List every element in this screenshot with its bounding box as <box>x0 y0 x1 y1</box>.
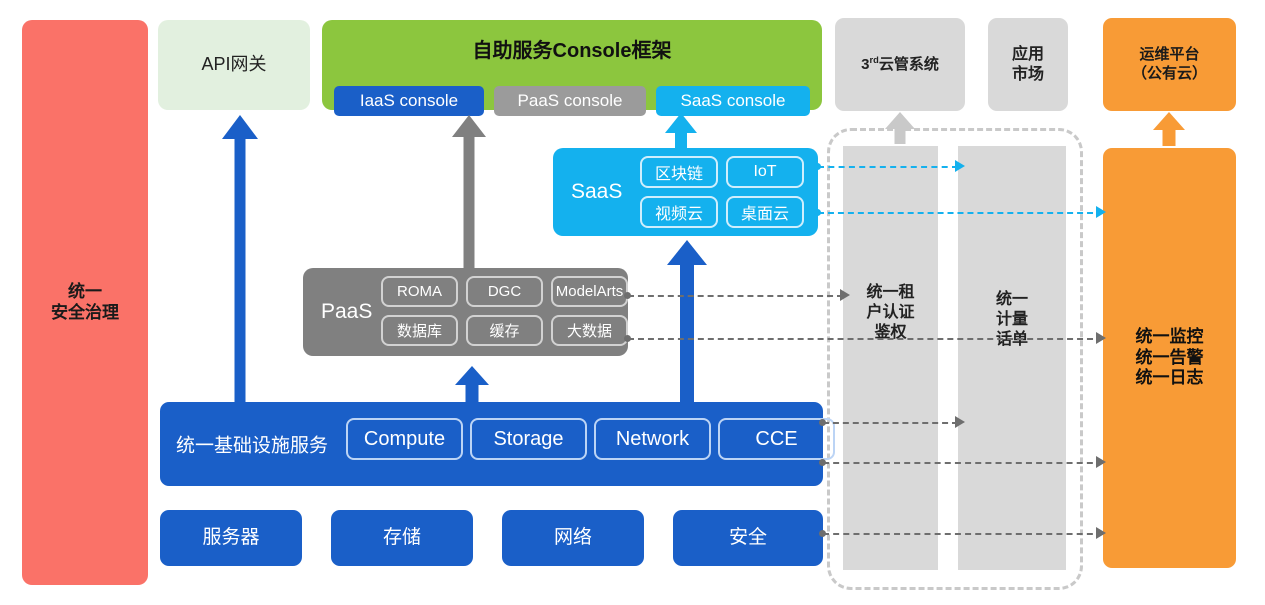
connector-infra-to-auth <box>823 422 958 424</box>
arrowhead-saas-to-auth <box>955 160 965 172</box>
infrastructure-layer-label: 统一基础设施服务 <box>176 431 328 458</box>
console-framework-panel: 自助服务Console框架 IaaS console PaaS console … <box>322 20 822 110</box>
architecture-diagram: 统一 安全治理 API网关 自助服务Console框架 IaaS console… <box>0 0 1265 605</box>
paas-service-modelarts-label: ModelArts <box>556 283 624 300</box>
infra-service-cce-label: CCE <box>755 428 797 451</box>
unified-auth-line2: 户认证 <box>843 303 938 323</box>
arrow-saas-to-console <box>665 113 697 153</box>
connector-saas-to-auth <box>818 166 958 168</box>
arrowhead-paas-to-ops <box>1096 332 1106 344</box>
saas-service-desktop-cloud[interactable]: 桌面云 <box>726 196 804 228</box>
paas-service-bigdata[interactable]: 大数据 <box>551 315 628 346</box>
cloud-mgmt-rest: 云管系统 <box>879 56 939 73</box>
arrow-paas-to-console <box>452 115 486 270</box>
infra-service-compute[interactable]: Compute <box>346 418 463 460</box>
paas-console-chip[interactable]: PaaS console <box>494 86 646 116</box>
connector-infra-to-ops <box>823 462 1103 464</box>
infra-service-network-label: Network <box>616 428 689 451</box>
connector-saas-to-ops <box>818 212 1103 214</box>
ops-platform-box: 运维平台 （公有云） <box>1103 18 1236 111</box>
paas-layer-label: PaaS <box>321 300 372 324</box>
infra-service-storage-label: Storage <box>493 428 563 451</box>
arrowhead-saas-to-ops <box>1096 206 1106 218</box>
hardware-box-storage: 存储 <box>331 510 473 566</box>
iaas-console-label: IaaS console <box>360 91 458 111</box>
infra-service-network[interactable]: Network <box>594 418 711 460</box>
saas-service-video-cloud[interactable]: 视频云 <box>640 196 718 228</box>
saas-console-label: SaaS console <box>681 91 786 111</box>
cloud-mgmt-sup: rd <box>870 55 879 65</box>
ops-column-line2: 统一告警 <box>1136 348 1204 369</box>
paas-service-dgc[interactable]: DGC <box>466 276 543 307</box>
saas-service-iot-label: IoT <box>753 163 776 181</box>
saas-service-desktop-cloud-label: 桌面云 <box>741 200 789 224</box>
security-governance-line2: 安全治理 <box>51 303 119 324</box>
arrowhead-paas-to-auth <box>840 289 850 301</box>
saas-service-blockchain-label: 区块链 <box>655 160 703 184</box>
unified-metering-column <box>958 146 1066 570</box>
ops-platform-line1: 运维平台 <box>1139 46 1199 64</box>
hardware-box-security: 安全 <box>673 510 823 566</box>
saas-layer-panel: SaaS 区块链 IoT 视频云 桌面云 <box>553 148 818 236</box>
unified-metering-line1: 统一 <box>958 290 1066 310</box>
infrastructure-layer-panel: 统一基础设施服务 Compute Storage Network CCE <box>160 402 823 486</box>
paas-service-dgc-label: DGC <box>488 283 521 300</box>
hardware-box-server-label: 服务器 <box>202 526 259 549</box>
security-governance-line1: 统一 <box>68 282 102 303</box>
arrow-to-ops-platform <box>1153 112 1185 146</box>
hardware-box-network: 网络 <box>502 510 644 566</box>
api-gateway-label: API网关 <box>201 54 266 76</box>
infra-service-cce[interactable]: CCE <box>718 418 835 460</box>
hardware-box-storage-label: 存储 <box>383 526 421 549</box>
console-framework-title: 自助服务Console框架 <box>322 34 822 63</box>
cloud-mgmt-prefix: 3 <box>861 56 869 73</box>
third-party-cloud-management-label: 3rd云管系统 <box>861 55 939 74</box>
paas-service-database-label: 数据库 <box>397 320 442 341</box>
third-party-cloud-management-box: 3rd云管系统 <box>835 18 965 111</box>
unified-auth-line1: 统一租 <box>843 283 938 303</box>
paas-service-cache[interactable]: 缓存 <box>466 315 543 346</box>
arrowhead-hardware-to-ops <box>1096 527 1106 539</box>
hardware-box-security-label: 安全 <box>729 526 767 549</box>
paas-service-database[interactable]: 数据库 <box>381 315 458 346</box>
paas-service-roma[interactable]: ROMA <box>381 276 458 307</box>
ops-column-line1: 统一监控 <box>1136 327 1204 348</box>
saas-service-blockchain[interactable]: 区块链 <box>640 156 718 188</box>
paas-console-label: PaaS console <box>518 91 623 111</box>
saas-service-video-cloud-label: 视频云 <box>655 200 703 224</box>
ops-platform-line2: （公有云） <box>1132 65 1207 83</box>
unified-auth-label: 统一租 户认证 鉴权 <box>843 283 938 343</box>
unified-auth-column <box>843 146 938 570</box>
unified-metering-label: 统一 计量 话单 <box>958 290 1066 350</box>
arrowhead-infra-to-ops <box>1096 456 1106 468</box>
hardware-box-network-label: 网络 <box>554 526 592 549</box>
saas-layer-label: SaaS <box>571 180 622 204</box>
arrowhead-infra-to-auth <box>955 416 965 428</box>
app-market-box: 应用 市场 <box>988 18 1068 111</box>
ops-column-panel: 统一监控 统一告警 统一日志 <box>1103 148 1236 568</box>
infra-service-compute-label: Compute <box>364 428 445 451</box>
paas-layer-panel: PaaS ROMA DGC ModelArts 数据库 缓存 大数据 <box>303 268 628 356</box>
unified-metering-line3: 话单 <box>958 330 1066 350</box>
api-gateway-box: API网关 <box>158 20 310 110</box>
unified-auth-line3: 鉴权 <box>843 323 938 343</box>
connector-paas-to-ops <box>628 338 1103 340</box>
app-market-line1: 应用 <box>1012 45 1044 65</box>
app-market-line2: 市场 <box>1012 65 1044 85</box>
security-governance-panel: 统一 安全治理 <box>22 20 148 585</box>
connector-paas-to-auth <box>628 295 843 297</box>
paas-service-bigdata-label: 大数据 <box>567 320 612 341</box>
hardware-box-server: 服务器 <box>160 510 302 566</box>
saas-console-chip[interactable]: SaaS console <box>656 86 810 116</box>
paas-service-modelarts[interactable]: ModelArts <box>551 276 628 307</box>
arrow-infra-to-apigateway <box>222 115 258 405</box>
ops-column-line3: 统一日志 <box>1136 368 1204 389</box>
infra-service-storage[interactable]: Storage <box>470 418 587 460</box>
unified-metering-line2: 计量 <box>958 310 1066 330</box>
paas-service-roma-label: ROMA <box>397 283 442 300</box>
connector-hardware-to-ops <box>823 533 1103 535</box>
saas-service-iot[interactable]: IoT <box>726 156 804 188</box>
paas-service-cache-label: 缓存 <box>489 320 519 341</box>
iaas-console-chip[interactable]: IaaS console <box>334 86 484 116</box>
arrow-infra-to-saas <box>667 240 707 405</box>
